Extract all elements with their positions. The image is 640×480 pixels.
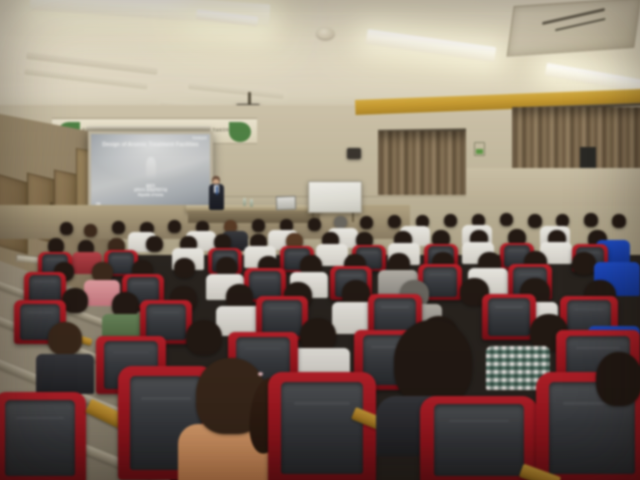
projection-screen-frame: 학술발표회 Design of Arsenic Treatment Facili… xyxy=(88,131,213,213)
water-bottle xyxy=(243,198,246,206)
slide-title: Design of Arsenic Treatment Facilities xyxy=(91,142,210,148)
wall-speaker xyxy=(347,148,361,159)
auditorium-photo: 환영 학술발표회 학술발표회 xyxy=(0,0,640,480)
window-curtain xyxy=(512,107,640,169)
audience-head xyxy=(112,221,125,234)
audience-head xyxy=(48,322,82,355)
foreground-attendee-head xyxy=(596,352,640,406)
scene-blur-layer: 환영 학술발표회 학술발표회 xyxy=(0,0,640,480)
water-bottle xyxy=(250,199,253,207)
presenter-tie xyxy=(216,186,218,195)
audience-head xyxy=(528,214,542,228)
whiteboard xyxy=(308,181,362,213)
laptop xyxy=(276,196,296,211)
slide-subtitle: 발표자 상하수도 환경공학연구실 Republic of Korea xyxy=(91,184,210,198)
ceiling-vent xyxy=(507,0,640,57)
audience-head xyxy=(584,213,598,227)
presenter xyxy=(206,176,228,216)
audience-head xyxy=(168,220,181,233)
banner-text-right: 학술발표회 xyxy=(212,127,229,132)
audience-head xyxy=(308,218,321,231)
audience-head xyxy=(252,219,265,232)
audience-head xyxy=(92,262,113,282)
audience-head xyxy=(146,236,163,252)
audience-head xyxy=(174,258,195,278)
audience-head xyxy=(388,215,401,228)
audience-head xyxy=(334,216,347,228)
audience-head xyxy=(186,320,222,355)
auditorium-seat[interactable] xyxy=(482,294,536,340)
projection-screen: 학술발표회 Design of Arsenic Treatment Facili… xyxy=(91,134,210,209)
auditorium-seat[interactable] xyxy=(420,396,538,480)
slide-subtitle-line-3: Republic of Korea xyxy=(91,193,210,198)
slide-figure-graphic xyxy=(146,157,157,180)
window-curtain xyxy=(378,131,466,195)
slide-corner-text: 학술발표회 xyxy=(192,136,207,140)
auditorium-seat[interactable] xyxy=(268,372,376,480)
foreground-attendee-head xyxy=(394,320,472,406)
smoke-detector-icon xyxy=(317,28,334,39)
audience-head xyxy=(500,213,513,226)
audience-head xyxy=(84,224,97,237)
audience-torso xyxy=(36,354,94,394)
exit-sign-icon xyxy=(474,142,485,156)
window-gap xyxy=(580,147,596,169)
audience-head xyxy=(60,222,73,235)
audience-head xyxy=(444,214,457,227)
auditorium-seat[interactable] xyxy=(0,392,86,480)
audience-head xyxy=(572,252,596,275)
audience-head xyxy=(360,216,373,229)
right-wall-lower xyxy=(466,168,640,206)
hair-tie xyxy=(258,372,263,376)
audience-head xyxy=(612,214,626,228)
